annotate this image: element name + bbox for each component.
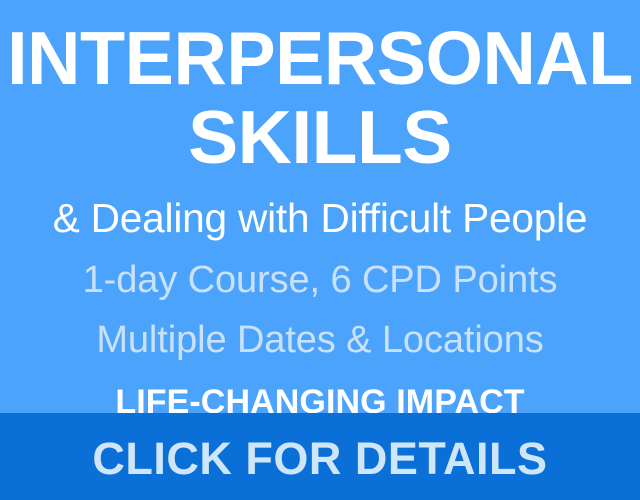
banner-subtitle: & Dealing with Difficult People	[3, 198, 637, 239]
headline-line-1: INTERPERSONAL	[5, 22, 635, 95]
cta-button[interactable]: CLICK FOR DETAILS	[0, 413, 640, 500]
course-advertisement-banner[interactable]: INTERPERSONAL SKILLS & Dealing with Diff…	[0, 0, 640, 500]
cta-button-label: CLICK FOR DETAILS	[92, 436, 547, 481]
headline-line-2: SKILLS	[0, 101, 640, 174]
banner-detail-dates-locations: Multiple Dates & Locations	[0, 321, 640, 359]
banner-content: INTERPERSONAL SKILLS & Dealing with Diff…	[0, 0, 640, 413]
banner-detail-course-info: 1-day Course, 6 CPD Points	[0, 261, 640, 299]
